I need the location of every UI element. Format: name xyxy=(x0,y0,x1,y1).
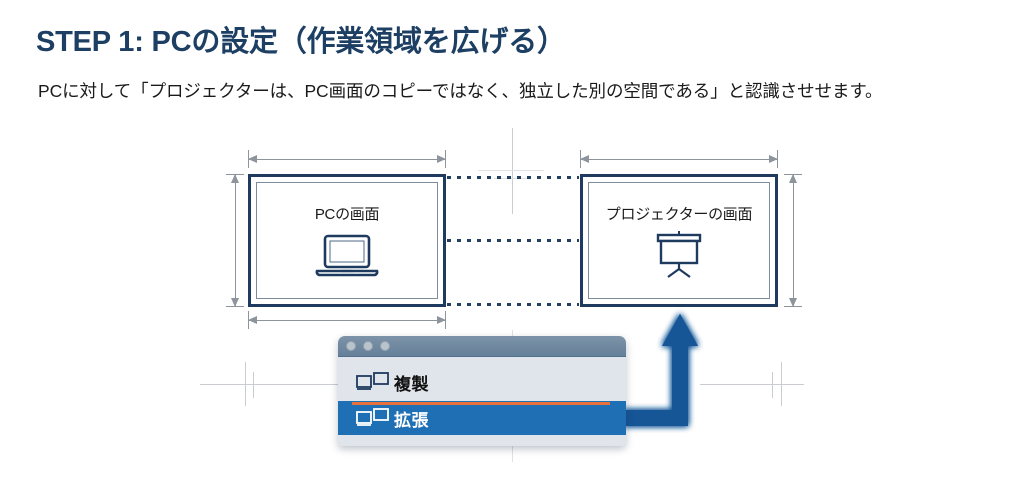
guide-vertical-left-lower-short xyxy=(253,372,254,398)
duplicate-displays-icon xyxy=(356,371,390,393)
connector-bottom xyxy=(447,303,579,306)
page-description: PCに対して「プロジェクターは、PC画面のコピーではなく、独立した別の空間である… xyxy=(38,78,996,105)
guide-horizontal-left-lower xyxy=(200,384,340,385)
guide-vertical-center xyxy=(512,128,513,214)
guide-horizontal-right-lower xyxy=(700,384,804,385)
connector-top xyxy=(447,176,579,179)
pc-screen-label: PCの画面 xyxy=(251,203,443,224)
callout-arrow-icon xyxy=(610,300,730,435)
strikethrough-line xyxy=(352,402,610,405)
dimension-projector-height-right xyxy=(783,174,803,307)
connector-middle xyxy=(447,239,579,242)
dimension-pc-height-left xyxy=(225,174,245,307)
dialog-body: 複製 拡張 xyxy=(338,357,626,446)
slide-canvas: STEP 1: PCの設定（作業領域を広げる） PCに対して「プロジェクターは、… xyxy=(0,0,1024,481)
projector-screen-box: プロジェクターの画面 xyxy=(580,174,778,307)
display-option-extend[interactable]: 拡張 xyxy=(338,401,626,435)
dimension-projector-width-top xyxy=(580,149,778,169)
close-icon[interactable] xyxy=(346,341,356,351)
display-option-duplicate-label: 複製 xyxy=(394,370,429,395)
projector-screen-label: プロジェクターの画面 xyxy=(583,203,775,224)
extend-displays-icon xyxy=(356,407,390,429)
page-title: STEP 1: PCの設定（作業領域を広げる） xyxy=(36,18,566,60)
pc-screen-box: PCの画面 xyxy=(248,174,446,307)
display-option-extend-label: 拡張 xyxy=(394,406,429,431)
laptop-icon xyxy=(315,233,379,284)
display-option-duplicate[interactable]: 複製 xyxy=(338,365,626,399)
minimize-icon[interactable] xyxy=(363,341,373,351)
display-settings-dialog[interactable]: 複製 拡張 xyxy=(338,336,626,446)
dimension-pc-width-top xyxy=(248,149,446,169)
guide-horizontal-upper xyxy=(478,170,544,171)
projector-screen-icon xyxy=(650,229,708,284)
dialog-titlebar[interactable] xyxy=(338,336,626,357)
guide-vertical-right-lower-short xyxy=(772,372,773,398)
dimension-pc-width-bottom xyxy=(248,310,446,330)
maximize-icon[interactable] xyxy=(380,341,390,351)
